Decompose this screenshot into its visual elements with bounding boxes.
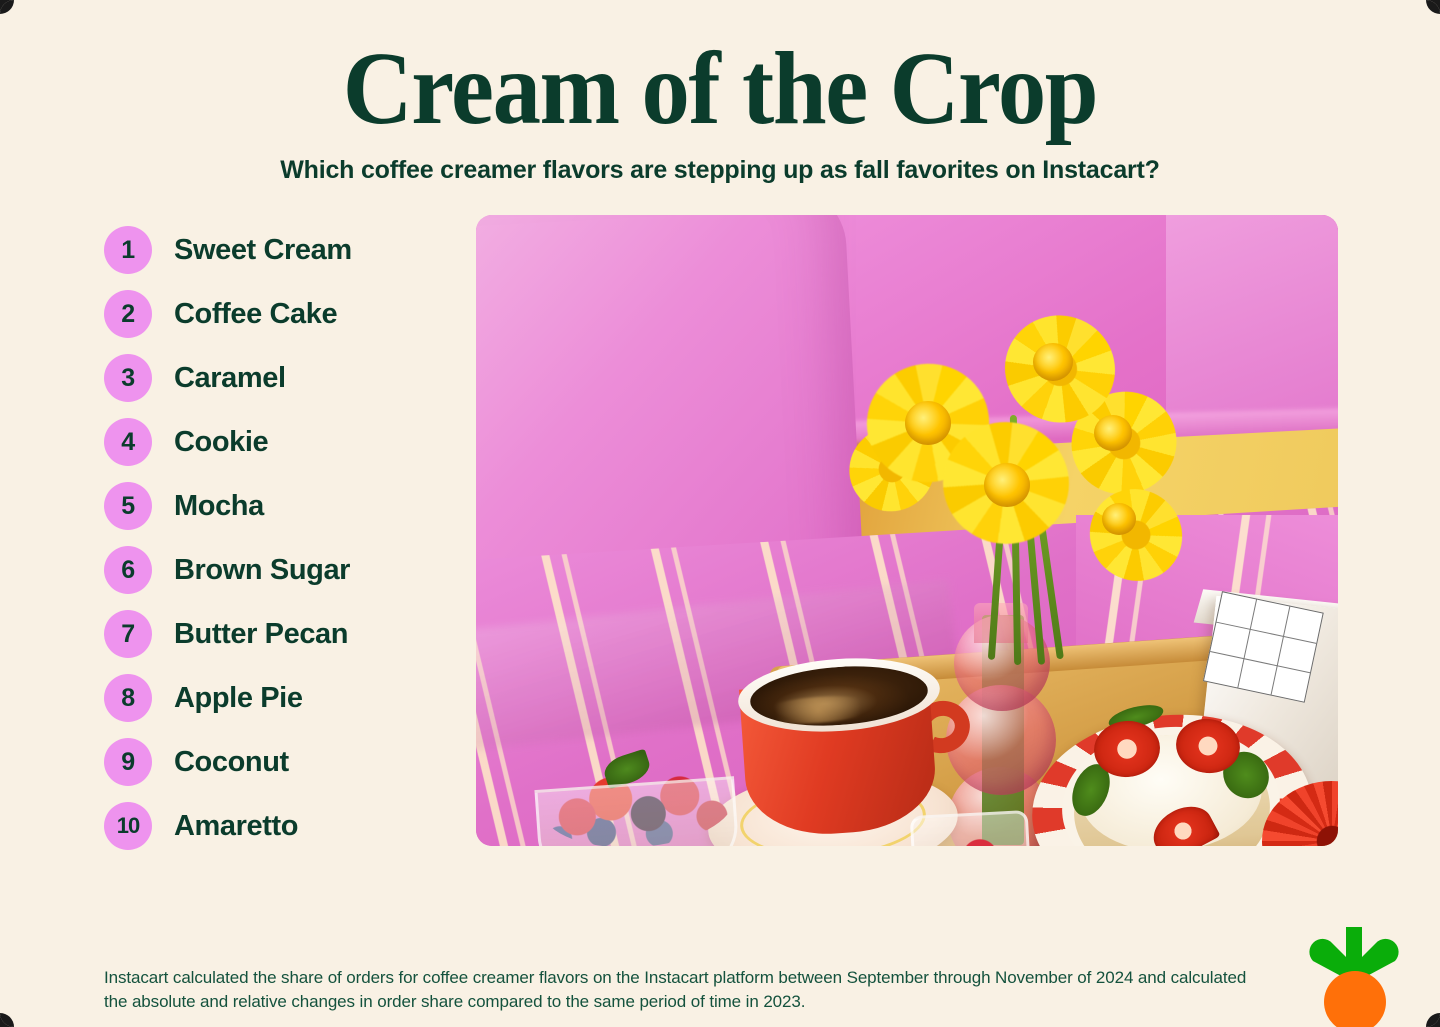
rank-badge: 6 — [104, 546, 152, 594]
page-subtitle: Which coffee creamer flavors are steppin… — [0, 156, 1440, 185]
rank-label: Caramel — [174, 362, 286, 395]
rank-label: Brown Sugar — [174, 554, 350, 587]
rank-badge: 7 — [104, 610, 152, 658]
rank-badge: 5 — [104, 482, 152, 530]
rank-label: Apple Pie — [174, 682, 303, 715]
rank-label: Mocha — [174, 490, 264, 523]
list-item: 10 Amaretto — [104, 794, 476, 858]
carrot-body — [1324, 971, 1386, 1027]
footer: Instacart calculated the share of orders… — [104, 923, 1400, 1015]
corner-notch-bottom-right — [1426, 1013, 1440, 1027]
rank-badge: 8 — [104, 674, 152, 722]
rank-label: Butter Pecan — [174, 618, 348, 651]
rank-badge: 3 — [104, 354, 152, 402]
list-item: 6 Brown Sugar — [104, 538, 476, 602]
list-item: 1 Sweet Cream — [104, 218, 476, 282]
list-item: 3 Caramel — [104, 346, 476, 410]
rank-label: Cookie — [174, 426, 268, 459]
photo-daffodil-trumpet — [1033, 343, 1073, 381]
photo-daffodil-trumpet — [1102, 503, 1136, 535]
rank-label: Coconut — [174, 746, 289, 779]
list-item: 4 Cookie — [104, 410, 476, 474]
hero-photo — [476, 215, 1338, 846]
rank-label: Coffee Cake — [174, 298, 337, 331]
rank-badge: 1 — [104, 226, 152, 274]
list-item: 7 Butter Pecan — [104, 602, 476, 666]
rank-label: Sweet Cream — [174, 234, 352, 267]
photo-daffodil-trumpet — [905, 401, 951, 445]
rank-badge: 2 — [104, 290, 152, 338]
content-area: 1 Sweet Cream 2 Coffee Cake 3 Caramel 4 … — [0, 215, 1440, 858]
infographic-card: Cream of the Crop Which coffee creamer f… — [0, 0, 1440, 1027]
rank-label: Amaretto — [174, 810, 298, 843]
rank-badge: 4 — [104, 418, 152, 466]
photo-package-label — [1203, 591, 1324, 703]
page-title: Cream of the Crop — [50, 36, 1389, 142]
rank-badge: 10 — [104, 802, 152, 850]
list-item: 5 Mocha — [104, 474, 476, 538]
instacart-carrot-logo — [1308, 923, 1400, 1015]
methodology-note: Instacart calculated the share of orders… — [104, 966, 1259, 1015]
photo-daffodil-trumpet — [984, 463, 1030, 507]
list-item: 8 Apple Pie — [104, 666, 476, 730]
photo-daffodil-trumpet — [1094, 415, 1132, 451]
corner-notch-bottom-left — [0, 1013, 14, 1027]
list-item: 2 Coffee Cake — [104, 282, 476, 346]
rank-badge: 9 — [104, 738, 152, 786]
header: Cream of the Crop Which coffee creamer f… — [0, 0, 1440, 185]
list-item: 9 Coconut — [104, 730, 476, 794]
flavor-ranking-list: 1 Sweet Cream 2 Coffee Cake 3 Caramel 4 … — [104, 215, 476, 858]
